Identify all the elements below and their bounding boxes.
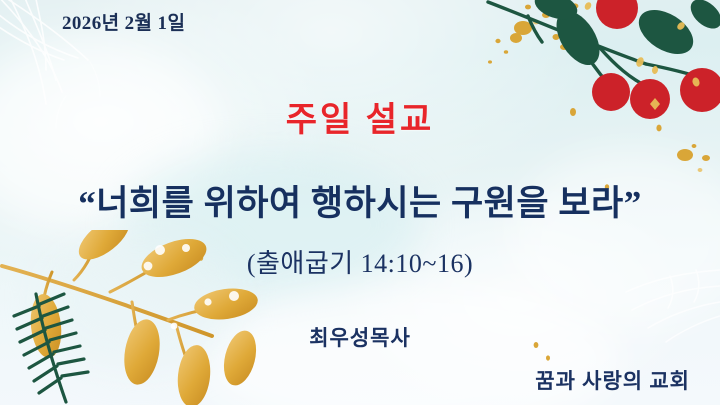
church-name: 꿈과 사랑의 교회: [535, 365, 690, 395]
sermon-label: 주일 설교: [0, 92, 720, 141]
sermon-slide: 2026년 2월 1일 주일 설교 “너희를 위하여 행하시는 구원을 보라” …: [0, 0, 720, 405]
date-text: 2026년 2월 1일: [62, 8, 185, 35]
sermon-title: “너희를 위하여 행하시는 구원을 보라”: [0, 175, 720, 226]
preacher-name: 최우성목사: [0, 322, 720, 352]
scripture-reference: (출애굽기 14:10~16): [0, 243, 720, 280]
